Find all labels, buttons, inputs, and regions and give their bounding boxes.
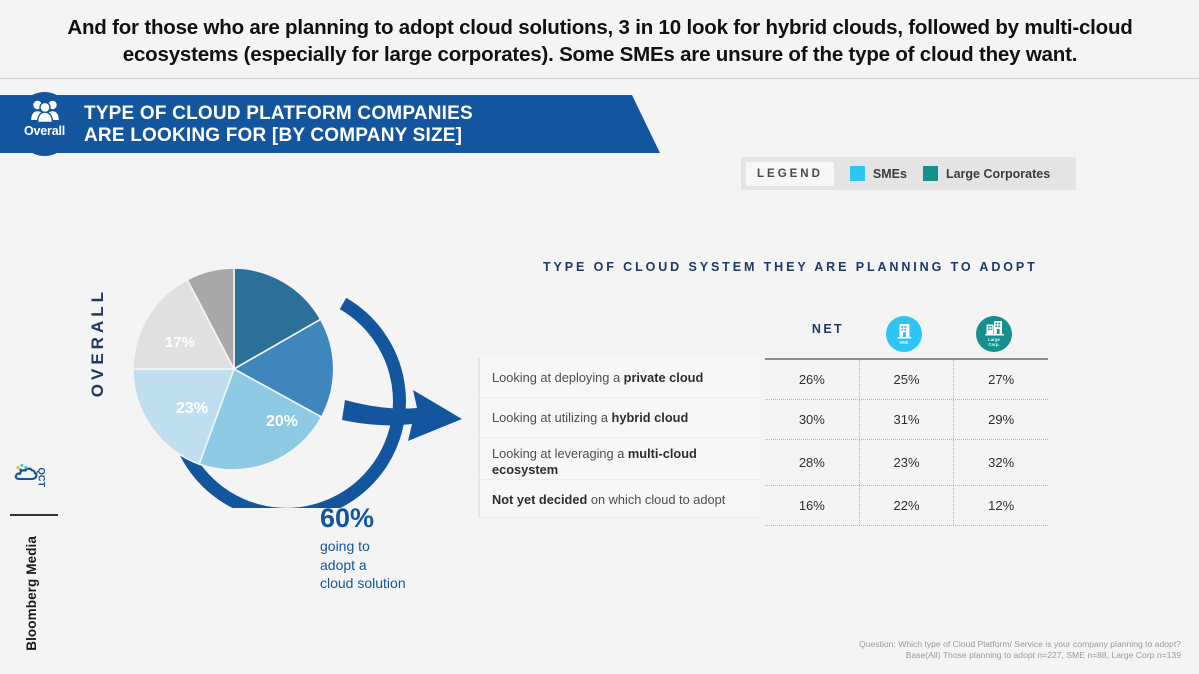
pie-callout-text: going to adopt a cloud solution xyxy=(320,537,520,593)
source-note-question: Question: Which type of Cloud Platform/ … xyxy=(859,639,1181,650)
office-buildings-large-icon xyxy=(985,320,1004,337)
cell-largecorp: 32% xyxy=(953,440,1048,485)
overall-badge: Overall xyxy=(16,92,73,156)
qct-logo: QCT xyxy=(13,461,47,500)
pie-slice-label-17: 17% xyxy=(165,334,195,351)
cell-sme: 25% xyxy=(859,360,954,399)
column-header-sme-icon: SME xyxy=(886,316,922,352)
row-label-emphasis: Not yet decided xyxy=(492,492,587,507)
banner-title: TYPE OF CLOUD PLATFORM COMPANIES ARE LOO… xyxy=(84,103,473,147)
table-row: 26% 25% 27% xyxy=(765,360,1048,400)
banner-title-line1: TYPE OF CLOUD PLATFORM COMPANIES xyxy=(84,103,473,125)
legend-item-large-corporates[interactable]: Large Corporates xyxy=(923,166,1050,181)
table-header: NET SME xyxy=(765,310,1048,358)
cell-sme: 31% xyxy=(859,400,954,439)
table-row-labels: Looking at deploying a private cloud Loo… xyxy=(478,358,760,518)
column-header-largecorp-caption: Large Corp. xyxy=(988,338,1000,347)
column-header-sme-caption: SME xyxy=(899,341,908,346)
panel-title: TYPE OF CLOUD SYSTEM THEY ARE PLANNING T… xyxy=(543,260,1038,274)
qct-logo-icon: QCT xyxy=(13,461,47,495)
brand-bloomberg-media: Bloomberg Media xyxy=(24,536,39,651)
pie-callout-line2: adopt a xyxy=(320,556,520,575)
row-label-emphasis: private cloud xyxy=(624,370,704,385)
cell-net: 16% xyxy=(765,486,859,525)
row-label-text: on which cloud to adopt xyxy=(587,492,725,507)
cell-net: 30% xyxy=(765,400,859,439)
pie-slices xyxy=(133,268,334,470)
chart-axis-label-overall: OVERALL xyxy=(88,288,108,397)
rail-divider xyxy=(10,514,58,516)
column-header-net: NET xyxy=(783,322,873,336)
banner-title-line2: ARE LOOKING FOR [BY COMPANY SIZE] xyxy=(84,125,473,147)
table-row: 30% 31% 29% xyxy=(765,400,1048,440)
row-label-text: Looking at deploying a xyxy=(492,370,624,385)
legend-label-large-corporates: Large Corporates xyxy=(946,167,1050,181)
pie-callout-line3: cloud solution xyxy=(320,574,520,593)
slide-root: And for those who are planning to adopt … xyxy=(0,0,1199,674)
table-row: Looking at deploying a private cloud xyxy=(478,358,760,398)
table-values-grid: 26% 25% 27% 30% 31% 29% 28% 23% 32% 16% … xyxy=(765,358,1048,526)
cell-largecorp: 12% xyxy=(953,486,1048,525)
cell-sme: 23% xyxy=(859,440,954,485)
cell-net: 28% xyxy=(765,440,859,485)
row-label-emphasis: hybrid cloud xyxy=(612,410,689,425)
pie-chart-svg: 20% 23% 17% xyxy=(110,248,480,508)
source-note: Question: Which type of Cloud Platform/ … xyxy=(859,639,1181,661)
legend-label-smes: SMEs xyxy=(873,167,907,181)
pie-slice-label-23: 23% xyxy=(176,400,208,417)
cell-net: 26% xyxy=(765,360,859,399)
row-label-text: Looking at utilizing a xyxy=(492,410,612,425)
table-row: 16% 22% 12% xyxy=(765,486,1048,526)
legend-tag: LEGEND xyxy=(746,162,834,186)
table-row: Not yet decided on which cloud to adopt xyxy=(478,480,760,518)
pie-callout-line1: going to xyxy=(320,537,520,556)
legend-swatch-smes xyxy=(850,166,865,181)
legend: LEGEND SMEs Large Corporates xyxy=(741,157,1076,190)
table-row: 28% 23% 32% xyxy=(765,440,1048,486)
legend-swatch-large-corporates xyxy=(923,166,938,181)
legend-item-smes[interactable]: SMEs xyxy=(850,166,907,181)
overall-badge-label: Overall xyxy=(24,124,65,138)
page-title: And for those who are planning to adopt … xyxy=(60,14,1140,68)
pie-chart: 20% 23% 17% xyxy=(110,248,480,508)
source-note-base: Base(All) Those planning to adopt n=227,… xyxy=(859,650,1181,661)
table-row: Looking at utilizing a hybrid cloud xyxy=(478,398,760,438)
pie-slice-label-20: 20% xyxy=(266,413,298,430)
svg-text:QCT: QCT xyxy=(37,468,47,488)
table-row: Looking at leveraging a multi-cloud ecos… xyxy=(478,438,760,480)
row-label-text: Looking at leveraging a xyxy=(492,446,628,461)
section-banner: Overall TYPE OF CLOUD PLATFORM COMPANIES… xyxy=(0,95,680,153)
group-people-icon xyxy=(30,99,60,123)
cell-largecorp: 29% xyxy=(953,400,1048,439)
column-header-largecorp-icon: Large Corp. xyxy=(976,316,1012,352)
cell-sme: 22% xyxy=(859,486,954,525)
office-building-small-icon xyxy=(897,323,912,340)
cell-largecorp: 27% xyxy=(953,360,1048,399)
header-divider xyxy=(0,78,1199,79)
